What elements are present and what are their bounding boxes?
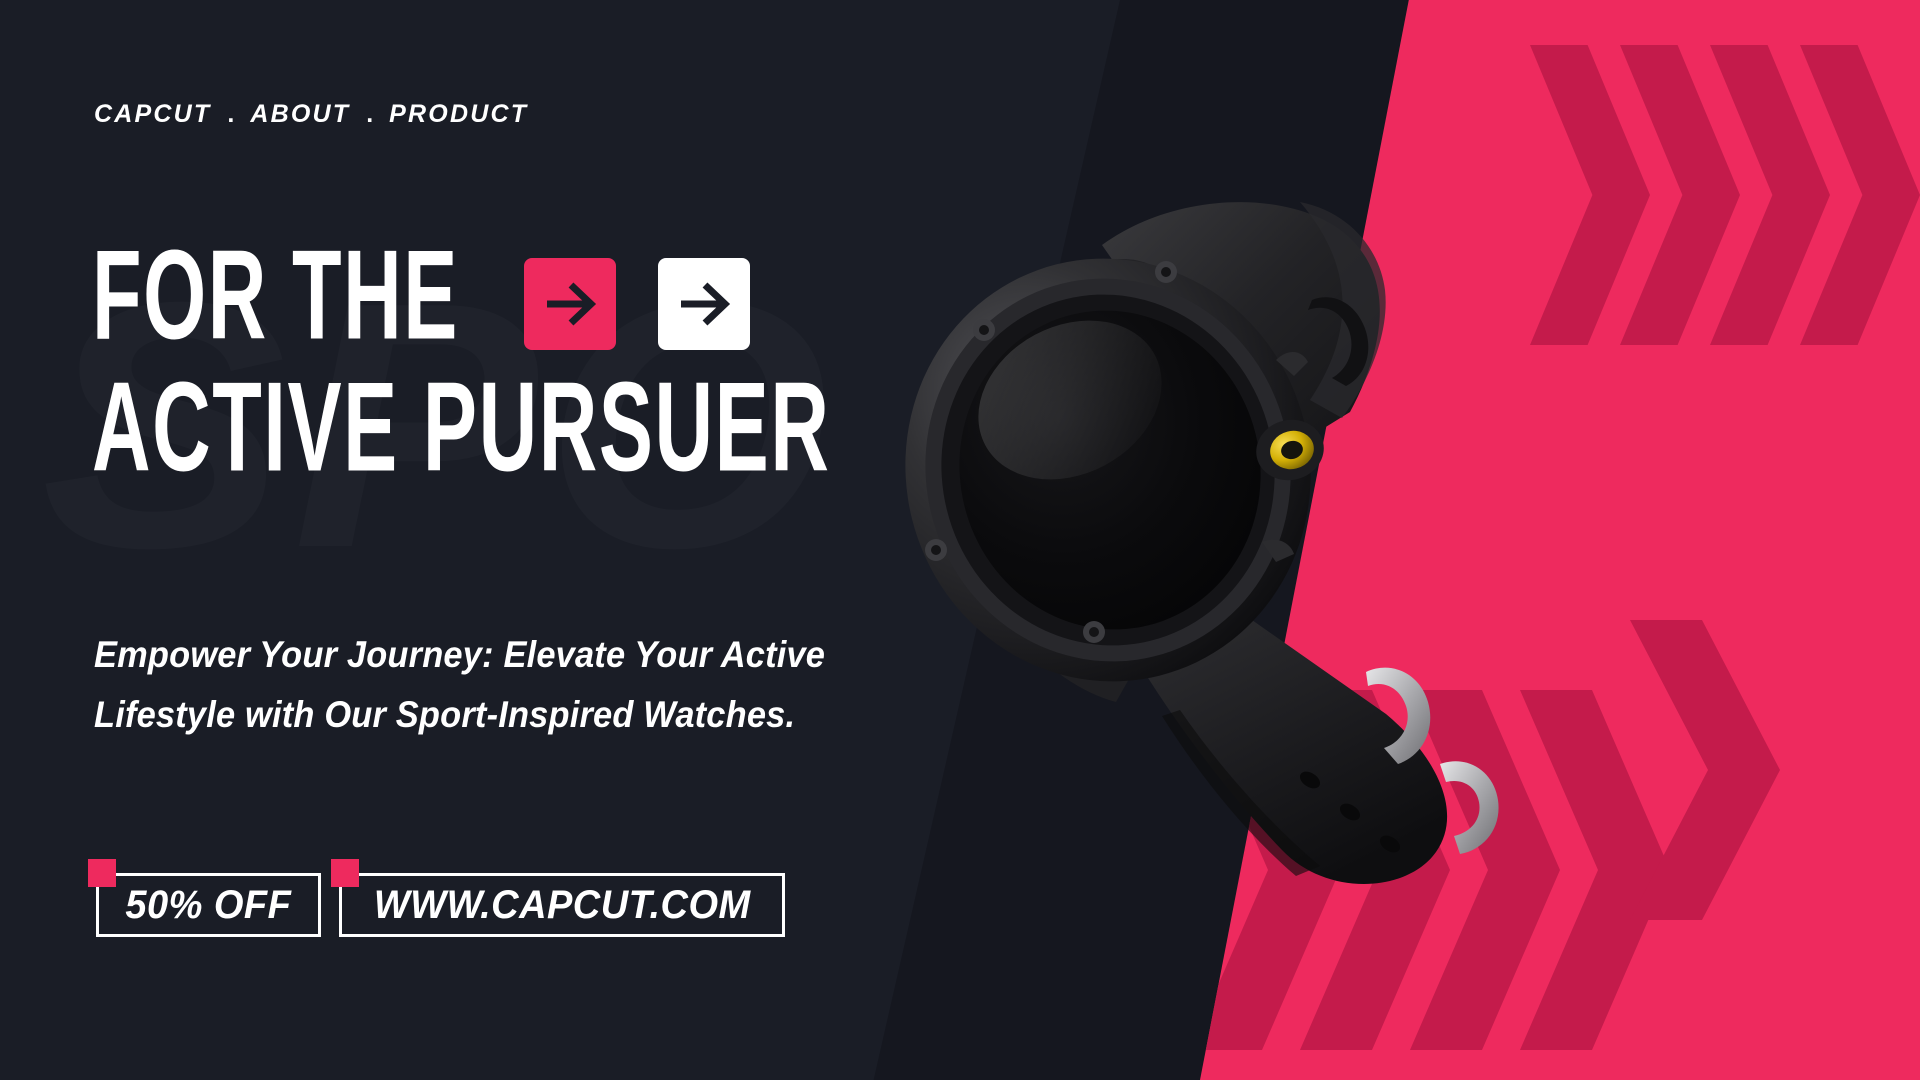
promo-banner: SPO CAPCUT . ABOUT . PRODUCT FOR THE ACT… [0, 0, 1920, 1080]
website-badge[interactable]: WWW.CAPCUT.COM [339, 873, 786, 937]
nav-item-capcut[interactable]: CAPCUT [94, 100, 211, 129]
watch-buckle-ring [1440, 761, 1499, 854]
subtitle-text: Empower Your Journey: Elevate Your Activ… [94, 625, 825, 745]
nav-item-about[interactable]: ABOUT [250, 100, 350, 129]
corner-accent-square [331, 859, 359, 887]
arrow-right-icon [541, 275, 599, 333]
nav-separator: . [350, 100, 389, 129]
nav-item-product[interactable]: PRODUCT [389, 100, 528, 129]
website-badge-label: WWW.CAPCUT.COM [374, 883, 751, 928]
nav-separator: . [211, 100, 250, 129]
main-navigation: CAPCUT . ABOUT . PRODUCT [94, 100, 528, 129]
secondary-arrow-button[interactable] [658, 258, 750, 350]
primary-arrow-button[interactable] [524, 258, 616, 350]
cta-arrow-group [524, 258, 750, 350]
corner-accent-square [88, 859, 116, 887]
smartwatch-product-image [880, 150, 1580, 910]
arrow-right-icon [675, 275, 733, 333]
discount-badge[interactable]: 50% OFF [96, 873, 321, 937]
discount-badge-label: 50% OFF [125, 883, 291, 928]
cta-badge-row: 50% OFF WWW.CAPCUT.COM [96, 873, 785, 937]
headline-line-2: ACTIVE PURSUER [92, 369, 831, 488]
